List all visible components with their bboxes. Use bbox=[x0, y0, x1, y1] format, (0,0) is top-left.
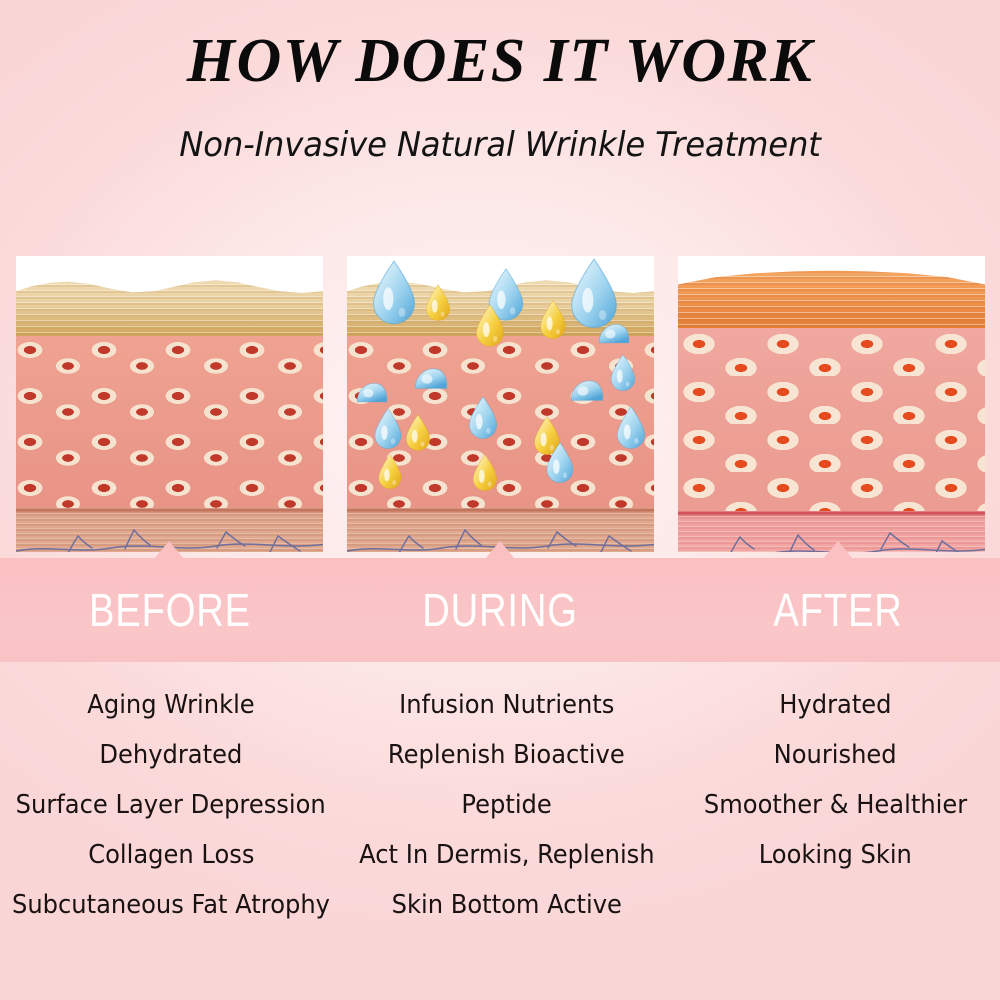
vessel-layer-icon bbox=[678, 511, 985, 552]
benefit-item: Skin Bottom Active bbox=[391, 880, 621, 930]
benefit-item: Nourished bbox=[774, 730, 897, 780]
benefit-item: Infusion Nutrients bbox=[399, 680, 614, 730]
stage-label-during: DURING bbox=[359, 582, 641, 638]
dermis-layer-icon bbox=[16, 336, 323, 516]
header: HOW DOES IT WORK Non-Invasive Natural Wr… bbox=[0, 0, 1000, 195]
water-droplet-icon bbox=[413, 366, 449, 392]
stage-label-band: BEFORE DURING AFTER bbox=[0, 558, 1000, 662]
stage-label-before: BEFORE bbox=[29, 582, 311, 638]
epidermis-layer-icon bbox=[678, 270, 985, 336]
column-after: HydratedNourishedSmoother & HealthierLoo… bbox=[671, 680, 1000, 960]
skin-diagram-panels bbox=[0, 256, 1000, 552]
water-droplet-icon bbox=[545, 442, 575, 484]
benefit-item: Replenish Bioactive bbox=[388, 730, 625, 780]
oil-droplet-icon bbox=[475, 304, 505, 348]
oil-droplet-icon bbox=[539, 300, 567, 340]
benefit-item: Surface Layer Depression bbox=[16, 780, 326, 830]
epidermis-layer-icon bbox=[16, 278, 323, 338]
skin-panel-during[interactable] bbox=[347, 256, 654, 552]
benefit-item: Smoother & Healthier bbox=[704, 780, 967, 830]
stage-label-after: AFTER bbox=[697, 582, 979, 638]
benefit-item: Looking Skin bbox=[759, 830, 912, 880]
water-droplet-icon bbox=[615, 406, 647, 450]
benefit-item: Aging Wrinkle bbox=[87, 680, 254, 730]
dermis-layer-icon bbox=[678, 328, 985, 518]
blood-vessel-icon bbox=[678, 511, 985, 552]
water-droplet-icon bbox=[597, 322, 631, 346]
skin-panel-after[interactable] bbox=[678, 256, 985, 552]
benefit-item: Peptide bbox=[461, 780, 551, 830]
water-droplet-icon bbox=[371, 260, 417, 326]
oil-droplet-icon bbox=[471, 454, 499, 492]
benefit-item: Hydrated bbox=[779, 680, 891, 730]
water-droplet-icon bbox=[569, 378, 605, 404]
water-droplet-icon bbox=[373, 408, 403, 450]
oil-droplet-icon bbox=[425, 284, 451, 322]
column-during: Infusion NutrientsReplenish BioactivePep… bbox=[342, 680, 671, 960]
water-droplet-icon bbox=[569, 258, 619, 330]
page-subtitle: Non-Invasive Natural Wrinkle Treatment bbox=[25, 125, 975, 165]
page-title: HOW DOES IT WORK bbox=[0, 26, 1000, 97]
oil-droplet-icon bbox=[405, 414, 431, 452]
column-before: Aging WrinkleDehydratedSurface Layer Dep… bbox=[0, 680, 342, 960]
skin-panel-before[interactable] bbox=[16, 256, 323, 552]
water-droplet-icon bbox=[609, 354, 637, 392]
benefit-item: Collagen Loss bbox=[88, 830, 254, 880]
benefit-item: Dehydrated bbox=[99, 730, 242, 780]
benefit-item: Act In Dermis, Replenish bbox=[359, 830, 654, 880]
water-droplet-icon bbox=[355, 381, 389, 405]
benefit-item: Subcutaneous Fat Atrophy bbox=[12, 880, 330, 930]
water-droplet-icon bbox=[467, 396, 499, 440]
benefit-columns: Aging WrinkleDehydratedSurface Layer Dep… bbox=[0, 680, 1000, 960]
oil-droplet-icon bbox=[377, 454, 403, 490]
